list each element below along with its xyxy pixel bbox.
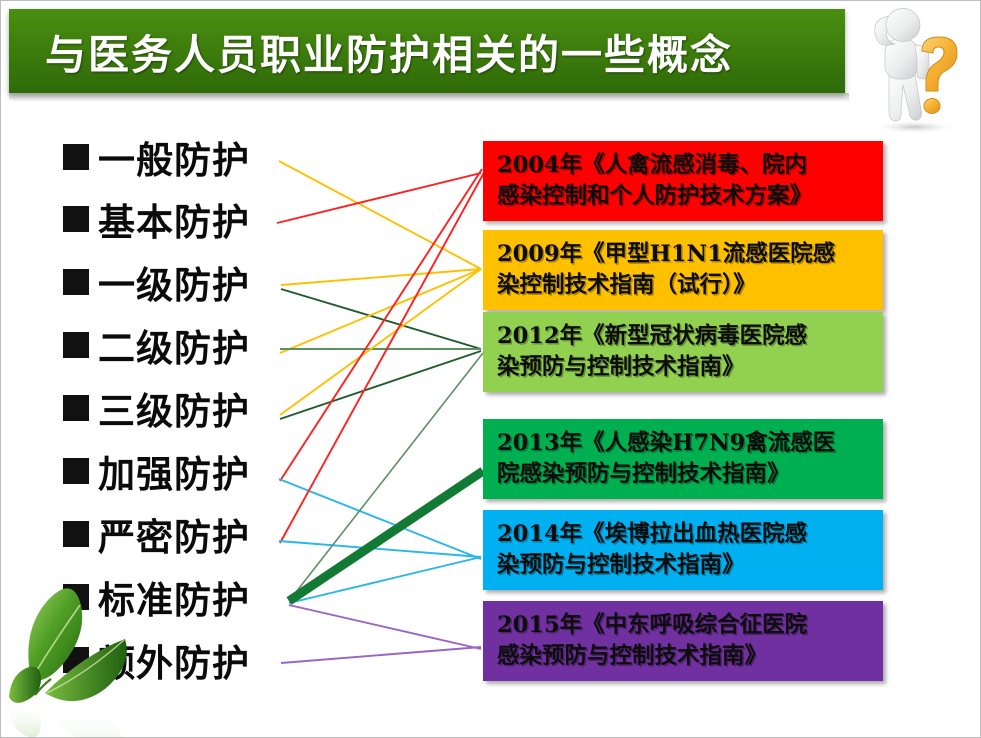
concept-label: 加强防护 [98, 444, 250, 498]
document-box-text: 2004年《人禽流感消毒、院内 感染控制和个人防护技术方案》 [483, 144, 822, 218]
square-bullet-icon [63, 206, 89, 232]
document-box-2015[interactable]: 2015年《中东呼吸综合征医院 感染预防与控制技术指南》 [483, 601, 883, 681]
document-line-1: 2012年《新型冠状病毒医院感 [497, 321, 807, 352]
green-leaves-icon [1, 569, 181, 738]
document-line-1: 2009年《甲型H1N1流感医院感 [497, 239, 835, 270]
square-bullet-icon [63, 332, 89, 358]
document-line-2: 感染控制和个人防护技术方案》 [497, 181, 812, 212]
document-line-2: 染预防与控制技术指南》 [497, 550, 807, 581]
square-bullet-icon [63, 458, 89, 484]
document-box-2012[interactable]: 2012年《新型冠状病毒医院感 染预防与控制技术指南》 [483, 312, 883, 392]
concept-label: 一般防护 [98, 130, 250, 184]
document-box-2004[interactable]: 2004年《人禽流感消毒、院内 感染控制和个人防护技术方案》 [483, 141, 883, 221]
square-bullet-icon [63, 521, 89, 547]
document-box-text: 2014年《埃博拉出血热医院感 染预防与控制技术指南》 [483, 513, 817, 587]
concept-item-0[interactable]: 一般防护 [63, 129, 250, 185]
concept-item-6[interactable]: 严密防护 [63, 506, 250, 562]
concept-label: 基本防护 [98, 192, 250, 246]
document-box-2013[interactable]: 2013年《人感染H7N9禽流感医 院感染预防与控制技术指南》 [483, 419, 883, 499]
document-line-2: 染预防与控制技术指南》 [497, 352, 807, 383]
concept-label: 二级防护 [98, 318, 250, 372]
document-box-text: 2009年《甲型H1N1流感医院感 染控制技术指南（试行）》 [483, 233, 845, 307]
concept-label: 三级防护 [98, 381, 250, 435]
document-box-2009[interactable]: 2009年《甲型H1N1流感医院感 染控制技术指南（试行）》 [483, 230, 883, 310]
concept-item-4[interactable]: 三级防护 [63, 380, 250, 436]
document-box-text: 2013年《人感染H7N9禽流感医 院感染预防与控制技术指南》 [483, 422, 845, 496]
document-line-2: 染控制技术指南（试行）》 [497, 270, 835, 301]
page-title: 与医务人员职业防护相关的一些概念 [9, 21, 733, 81]
concept-item-1[interactable]: 基本防护 [63, 191, 250, 247]
thinking-person-question-mark-icon [849, 3, 981, 135]
concept-label: 一级防护 [98, 255, 250, 309]
document-line-1: 2015年《中东呼吸综合征医院 [497, 610, 807, 641]
document-line-2: 院感染预防与控制技术指南》 [497, 459, 835, 490]
document-line-2: 感染预防与控制技术指南》 [497, 641, 807, 672]
concept-item-5[interactable]: 加强防护 [63, 443, 250, 499]
document-line-1: 2014年《埃博拉出血热医院感 [497, 519, 807, 550]
slide-title-bar: 与医务人员职业防护相关的一些概念 [9, 9, 845, 93]
document-line-1: 2004年《人禽流感消毒、院内 [497, 150, 812, 181]
slide-canvas: 与医务人员职业防护相关的一些概念 [0, 0, 981, 738]
document-box-text: 2012年《新型冠状病毒医院感 染预防与控制技术指南》 [483, 315, 817, 389]
document-line-1: 2013年《人感染H7N9禽流感医 [497, 428, 835, 459]
concept-label: 严密防护 [98, 507, 250, 561]
concept-item-3[interactable]: 二级防护 [63, 317, 250, 373]
square-bullet-icon [63, 144, 89, 170]
document-box-text: 2015年《中东呼吸综合征医院 感染预防与控制技术指南》 [483, 604, 817, 678]
concept-item-2[interactable]: 一级防护 [63, 254, 250, 310]
document-box-2014[interactable]: 2014年《埃博拉出血热医院感 染预防与控制技术指南》 [483, 510, 883, 590]
title-bar-shadow [9, 93, 849, 102]
square-bullet-icon [63, 395, 89, 421]
square-bullet-icon [63, 269, 89, 295]
